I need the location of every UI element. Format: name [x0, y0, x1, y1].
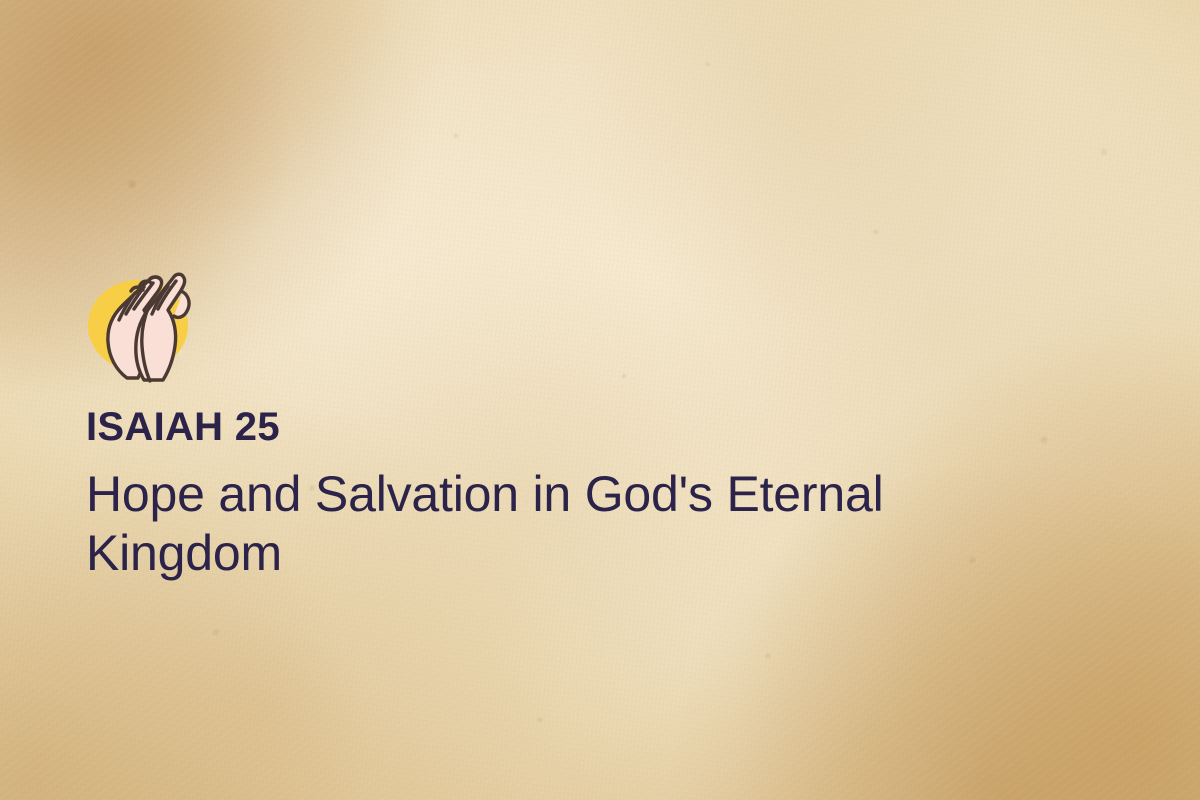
chapter-reference: ISAIAH 25 — [86, 406, 1086, 448]
praying-hands-icon-art — [86, 262, 206, 384]
chapter-theme-title: Hope and Salvation in God's Eternal King… — [86, 465, 966, 583]
scripture-title-card: ISAIAH 25 Hope and Salvation in God's Et… — [0, 0, 1200, 800]
praying-hands-icon — [86, 262, 206, 384]
card-content: ISAIAH 25 Hope and Salvation in God's Et… — [86, 262, 1086, 583]
